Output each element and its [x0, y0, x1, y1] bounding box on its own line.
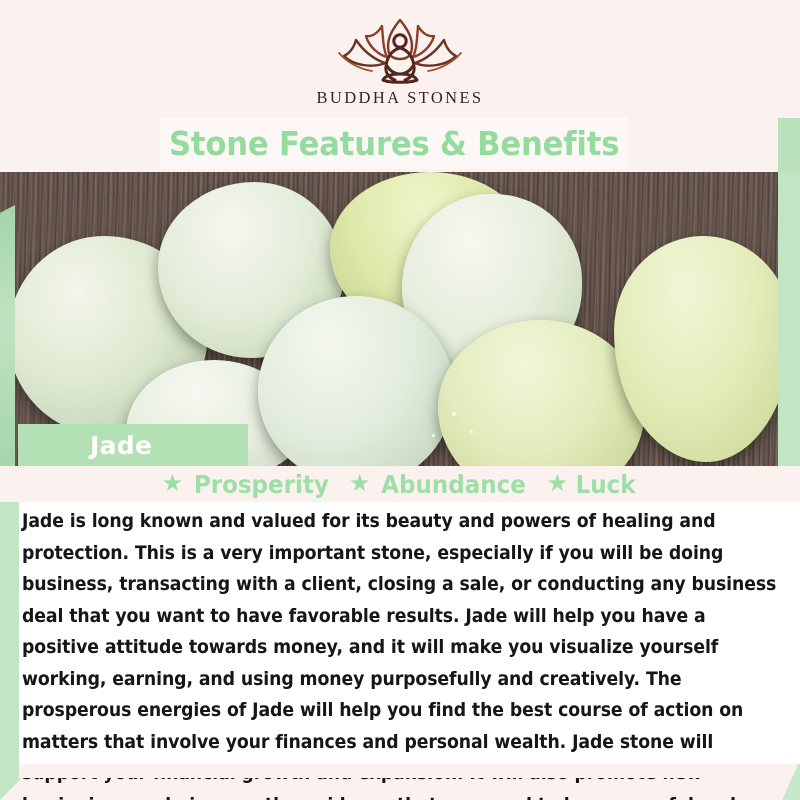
description-panel: Jade is long known and valued for its be… [19, 502, 800, 764]
decor-green-band-photo-right [778, 172, 800, 466]
benefit-item: ★ Prosperity [162, 470, 335, 499]
benefit-item: ★ Abundance [349, 470, 533, 499]
page-title: Stone Features & Benefits [169, 124, 619, 163]
star-icon: ★ [162, 472, 184, 496]
sparkle-icon [470, 430, 473, 433]
header: BUDDHA STONES [0, 0, 800, 118]
sparkle-icon [452, 412, 456, 416]
sparkle-icon [432, 434, 435, 437]
lotus-meditation-logo-icon [325, 14, 475, 86]
stone-photo [0, 172, 800, 466]
brand-logo: BUDDHA STONES [0, 14, 800, 108]
benefit-label: Luck [576, 470, 636, 499]
benefits-row: ★ Prosperity ★ Abundance ★ Luck [0, 466, 800, 502]
stone-info-card: BUDDHA STONES Stone Features & Benefits … [0, 0, 800, 800]
decor-green-band-photo-left [0, 205, 15, 466]
decor-bottom-strip [19, 764, 781, 778]
description-text: Jade is long known and valued for its be… [22, 506, 785, 800]
page-title-banner: Stone Features & Benefits [160, 117, 628, 169]
benefit-item: ★ Luck [547, 470, 639, 499]
stone-name: Jade [90, 431, 152, 460]
stone-name-banner: Jade [18, 424, 248, 466]
star-icon: ★ [349, 472, 371, 496]
decor-green-bar-left [0, 467, 19, 767]
benefit-label: Abundance [382, 470, 527, 499]
benefit-label: Prosperity [194, 470, 329, 499]
brand-name: BUDDHA STONES [316, 88, 483, 108]
star-icon: ★ [547, 472, 569, 496]
